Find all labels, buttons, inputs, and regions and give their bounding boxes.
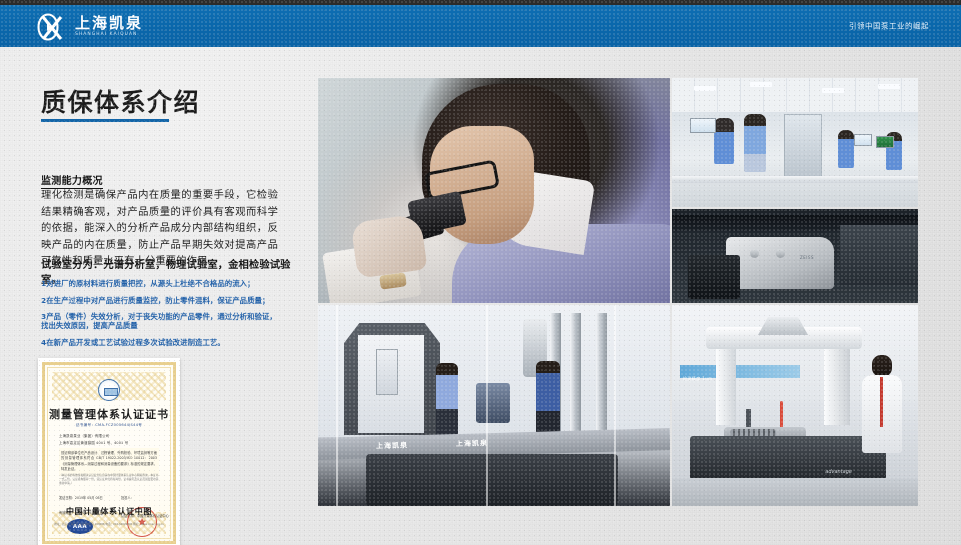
list-item: 3产品（零件）失效分析，对于丧失功能的产品零件，通过分析和验证，找出失效原因，提… — [41, 312, 284, 330]
lab-technician — [838, 130, 854, 168]
operator-hand — [350, 213, 427, 278]
cmm-gantry-left — [716, 339, 736, 425]
glass-partition — [614, 305, 616, 506]
lab-technician — [744, 114, 766, 172]
cmm-operator — [862, 351, 902, 469]
certificate-title: 测量管理体系认证证书 — [45, 406, 173, 422]
slide-canvas: 上海凯泉 SHANGHAI KAIQUAN 引领中国泵工业的崛起 质保体系介绍 … — [0, 0, 961, 545]
glass-partition — [336, 305, 338, 506]
microscope-knob — [776, 249, 785, 258]
ceiling-light — [694, 86, 716, 91]
kaiquan-logo-icon — [36, 13, 70, 41]
photo-zeiss-microscope: ZEISS 蔡司（ZEISS）显微镜设备特写 — [672, 209, 918, 303]
lab-technician — [714, 118, 734, 164]
microscope-knob — [750, 249, 759, 258]
photo-cmm-coordinate-measuring: 检测精度 1um advantage 三坐标测量机检测零件，技术员操作 — [672, 305, 918, 506]
brand-name-cn: 上海凯泉 — [75, 16, 143, 31]
work-table — [840, 225, 918, 285]
photo-laboratory-room: 理化试验室全景，蓝色工装技术员作业 — [672, 78, 918, 207]
brand-name-en: SHANGHAI KAIQUAN — [75, 33, 143, 37]
instrument-cabinet — [784, 114, 822, 180]
test-machine-column — [596, 313, 607, 439]
list-item: 4在新产品开发或工艺试验过程多次试验改进制造工艺。 — [41, 338, 284, 347]
certificate-note: （本证书的有效性和相关认证业务信息请在中国计量体系认证中心网站查询，本证书一式三… — [59, 473, 159, 485]
ceiling-light — [822, 88, 844, 93]
capability-bullet-list: 1对进厂的原材料进行质量把控，从源头上杜绝不合格品的流入； 2在生产过程中对产品… — [41, 279, 284, 354]
wall-banner-text: 检测精度 1um — [680, 374, 715, 384]
ceiling-light — [878, 84, 900, 89]
lab-floor — [672, 478, 918, 506]
coat-red-stripe — [880, 377, 883, 427]
certificate-issue-date: 发证日期：2019年 05月 08日 — [59, 495, 103, 500]
test-machine-column — [570, 313, 581, 439]
certificate-field-company: 上海凯泉泵业（集团）有限公司 — [59, 433, 159, 438]
certificate-field-address: 上海市嘉定区黄渡镇园 4001 号、4005 号 — [59, 440, 159, 445]
photo-microscope-inspection: 技术员使用金相显微镜进行检测 — [318, 78, 670, 303]
list-item: 1对进厂的原材料进行质量把控，从源头上杜绝不合格品的流入； — [41, 279, 284, 288]
site-header: 上海凯泉 SHANGHAI KAIQUAN 引领中国泵工业的崛起 — [0, 5, 961, 47]
certificate-image: 测量管理体系认证证书 证书编号：CMA-FCZ005644JS44号 上海凯泉泵… — [38, 358, 180, 545]
glass-partition — [486, 305, 488, 506]
cmm-granite-table: advantage — [690, 436, 886, 480]
title-underline-rule — [41, 119, 169, 122]
microscope-body — [726, 237, 834, 289]
cmm-brand-label: advantage — [825, 469, 852, 475]
certificate-issuer: 中国计量体系认证中图 — [45, 506, 173, 517]
zeiss-brand-label: ZEISS — [800, 255, 814, 260]
header-tagline: 引领中国泵工业的崛起 — [849, 21, 929, 32]
certificate-border: 测量管理体系认证证书 证书编号：CMA-FCZ005644JS44号 上海凯泉泵… — [42, 362, 176, 544]
worker-male — [536, 361, 560, 439]
cmm-gantry-right — [824, 339, 850, 425]
left-text-column: 质保体系介绍 监测能力概况 理化检测是确保产品内在质量的重要手段，它检验结果精确… — [0, 47, 318, 545]
photo-grid: 技术员使用金相显微镜进行检测 理化试验室全景，蓝色工装技术员作业 — [318, 78, 918, 506]
microscope-black-module — [688, 255, 740, 299]
page-title: 质保体系介绍 — [41, 83, 200, 119]
computer-monitor — [876, 136, 894, 148]
certificate-body-text: 兹证明该单位在产品设计、过程管理、外购检验、环境监测等方面的测量管理体系符合 G… — [59, 448, 159, 476]
certificate-issuer-address: 地址：北京市 海淀区 知春路8号院 100086 电话：010-62029000… — [45, 523, 173, 527]
certificate-emblem-icon — [98, 379, 120, 401]
brand-logo[interactable]: 上海凯泉 SHANGHAI KAIQUAN — [36, 13, 143, 41]
photo-material-testing-machine: 上海凯泉 上海凯泉 物理试验室材料拉伸试验机，机架印有上海凯泉标识 — [318, 305, 670, 506]
machine-base-granite — [366, 454, 618, 506]
computer-monitor — [854, 134, 872, 146]
machine-brand-label: 上海凯泉 — [456, 438, 488, 449]
machine-brand-label: 上海凯泉 — [376, 440, 408, 451]
certificate-number: 证书编号：CMA-FCZ005644JS44号 — [45, 423, 173, 428]
certificate-approver: 批准人： — [121, 495, 134, 500]
worker-female — [436, 363, 458, 439]
list-item: 2在生产过程中对产品进行质量监控，防止零件混料，保证产品质量； — [41, 296, 284, 305]
lab-bench — [672, 176, 918, 183]
operator-head — [872, 355, 892, 377]
ceiling-light — [750, 82, 772, 87]
wall-display — [690, 118, 716, 133]
wall-banner: 检测精度 1um — [680, 365, 800, 378]
blue-equipment-drum — [476, 383, 510, 423]
machine-control-panel — [376, 349, 398, 395]
